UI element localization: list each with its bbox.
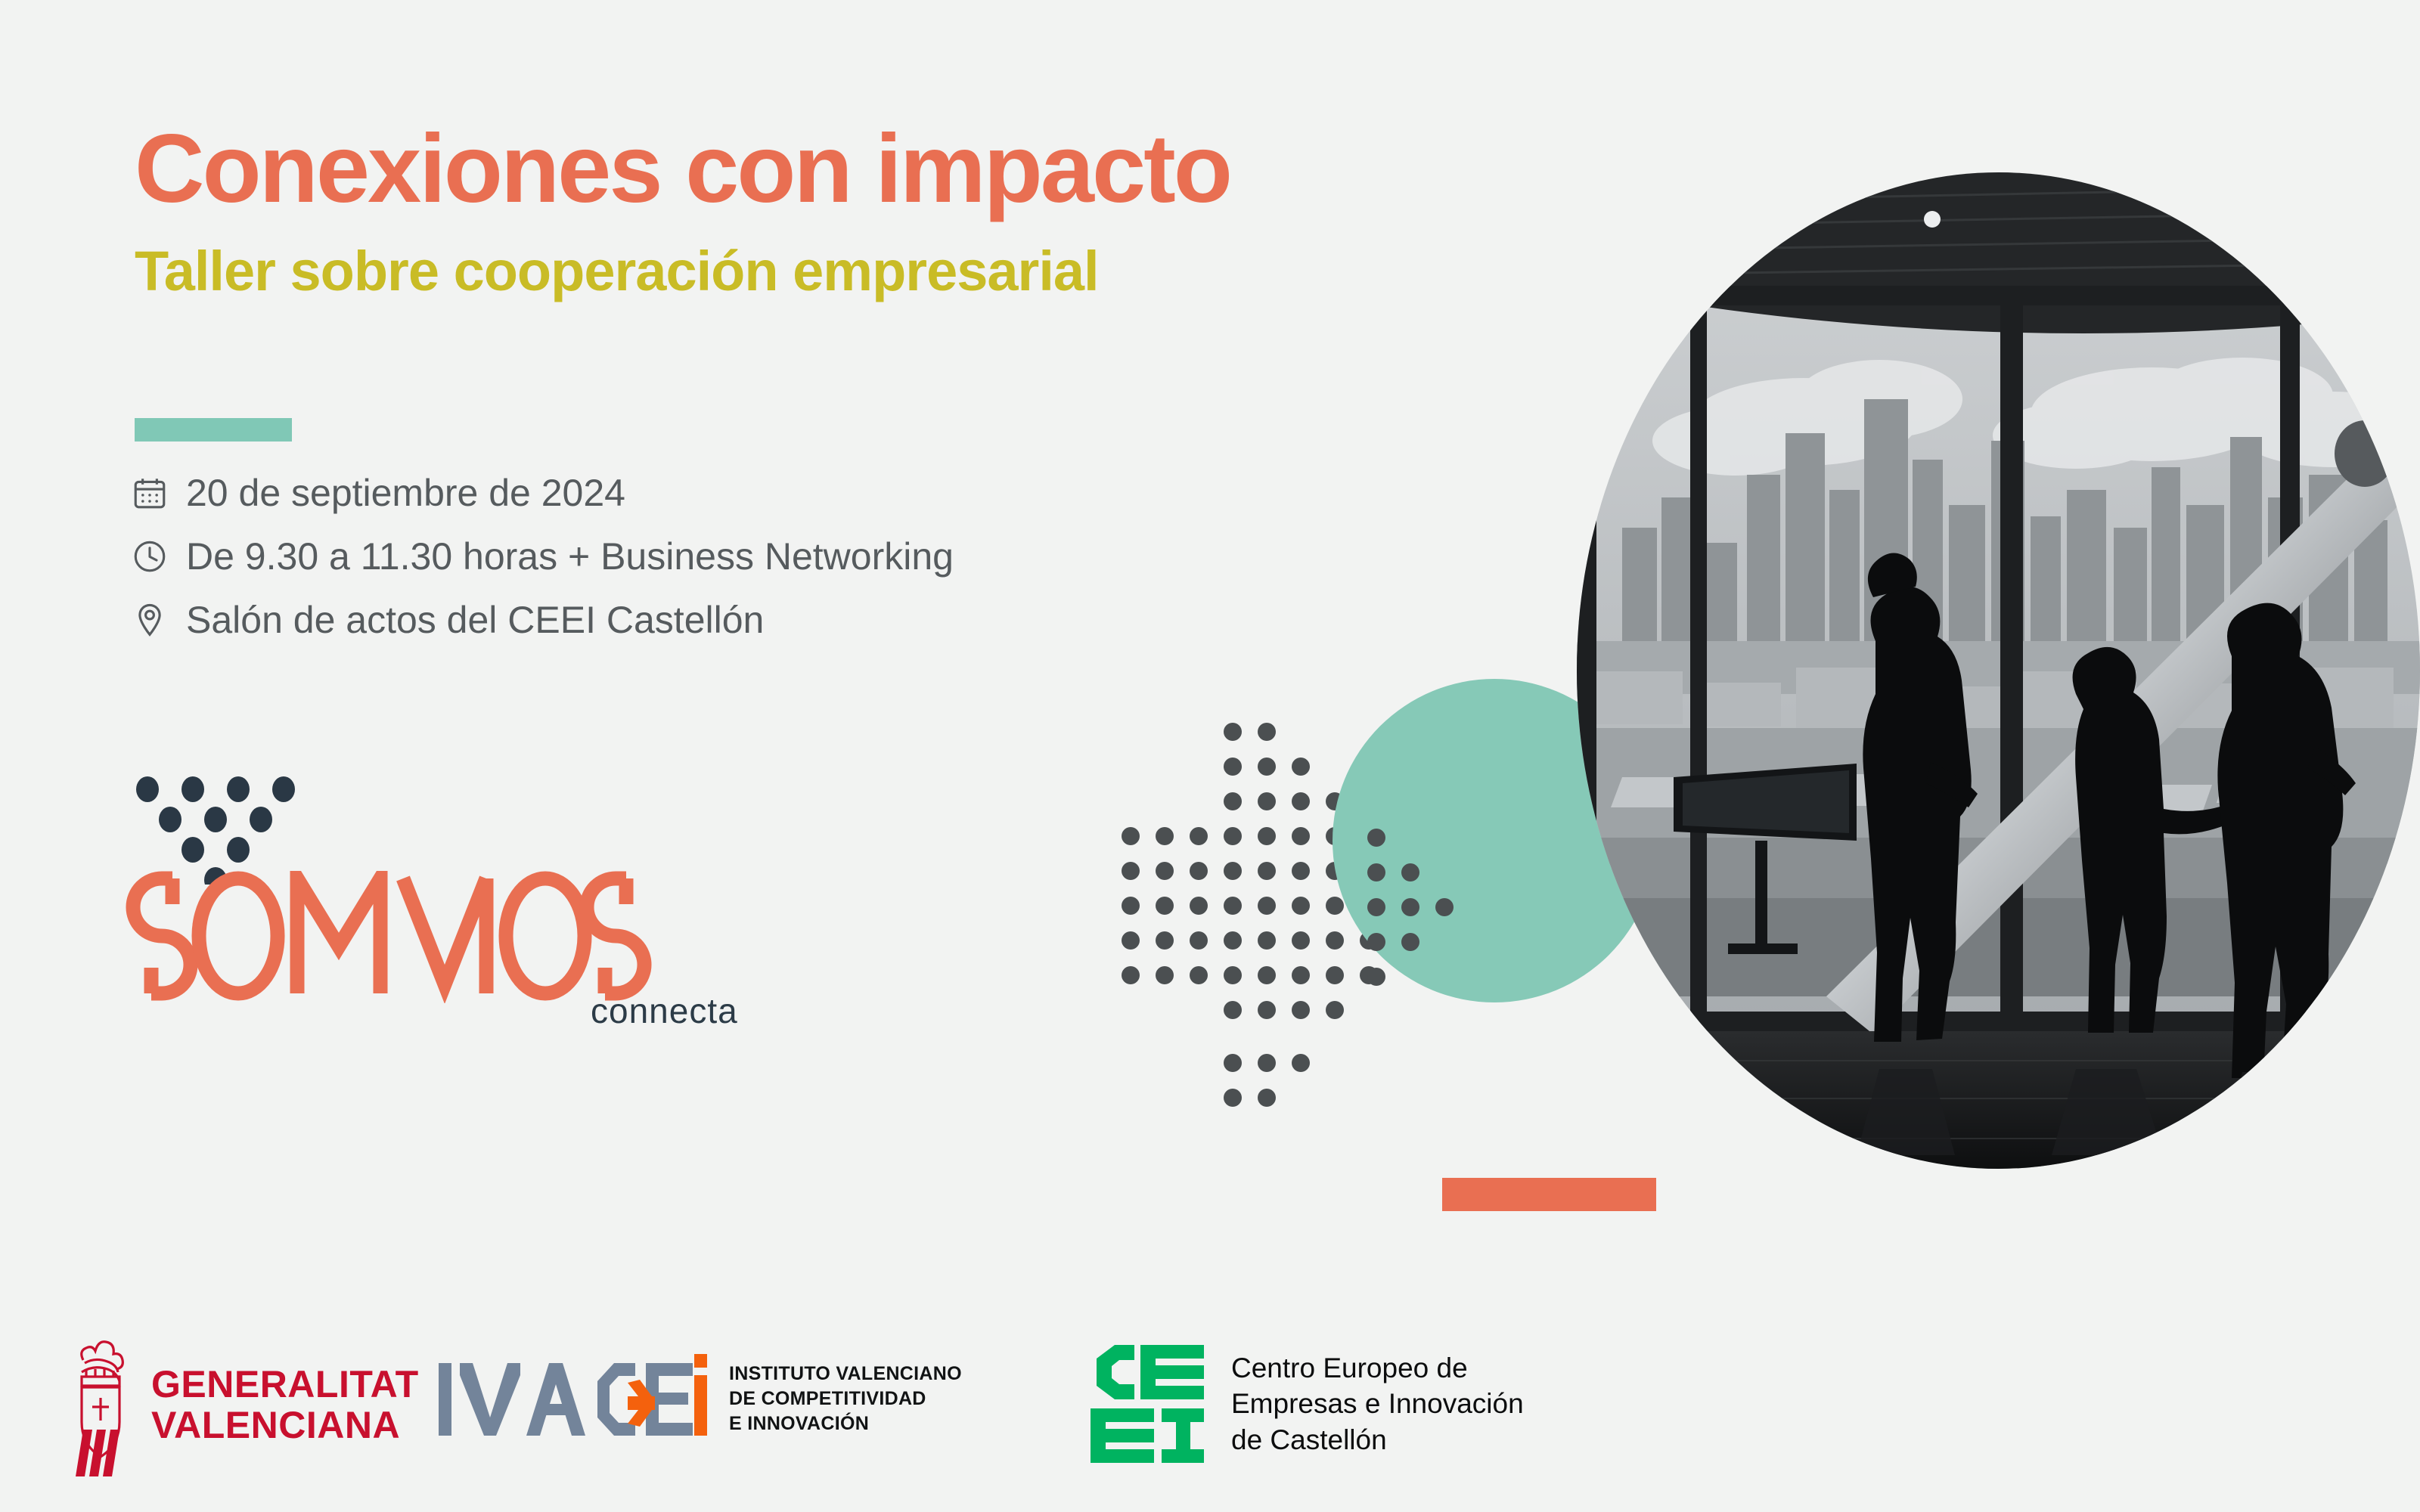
event-detail-venue: Salón de actos del CEEI Castellón	[130, 588, 954, 652]
sommos-wordmark-icon	[125, 871, 654, 1003]
event-date-text: 20 de septiembre de 2024	[186, 471, 625, 515]
ivace-caption-line-3: E INNOVACIÓN	[729, 1411, 962, 1436]
dot-grid-decoration-tail	[1089, 1036, 1414, 1142]
ivace-i-dot-icon	[690, 1349, 711, 1448]
ceei-caption-line-3: de Castellón	[1231, 1422, 1524, 1458]
generalitat-line-2: VALENCIANA	[151, 1405, 419, 1445]
headline-block: Conexiones con impacto Taller sobre coop…	[135, 121, 1632, 299]
event-time-text: De 9.30 a 11.30 horas + Business Network…	[186, 534, 954, 578]
sommos-tagline: connecta	[591, 990, 738, 1031]
generalitat-shield-icon	[67, 1333, 132, 1476]
sponsor-logos: GENERALITAT VALENCIANA	[0, 1327, 2420, 1501]
page-subtitle: Taller sobre cooperación empresarial	[135, 243, 1632, 299]
location-pin-icon	[130, 600, 169, 640]
ivace-caption-line-2: DE COMPETITIVIDAD	[729, 1387, 962, 1411]
accent-rule	[135, 418, 292, 442]
sommos-logo: connecta	[125, 771, 700, 1028]
coral-bar-decoration	[1442, 1178, 1656, 1211]
logo-ceei-castellon: Centro Europeo de Empresas e Innovación …	[1086, 1340, 1524, 1467]
sommos-triangle-dots-icon	[125, 771, 352, 885]
clock-icon	[130, 537, 169, 576]
event-detail-date: 20 de septiembre de 2024	[130, 461, 954, 525]
ceei-caption-line-1: Centro Europeo de	[1231, 1350, 1524, 1386]
event-venue-text: Salón de actos del CEEI Castellón	[186, 598, 764, 642]
generalitat-line-1: GENERALITAT	[151, 1364, 419, 1405]
ivace-caption-line-1: INSTITUTO VALENCIANO	[729, 1362, 962, 1387]
ivace-wordmark-icon	[437, 1349, 694, 1448]
event-details-list: 20 de septiembre de 2024 De 9.30 a 11.30…	[130, 461, 954, 652]
dot-grid-overlay-on-circle	[1361, 816, 1543, 1036]
ivace-caption: INSTITUTO VALENCIANO DE COMPETITIVIDAD E…	[729, 1362, 962, 1436]
event-detail-time: De 9.30 a 11.30 horas + Business Network…	[130, 525, 954, 588]
photo-illustration	[1577, 172, 2420, 1169]
ceei-caption: Centro Europeo de Empresas e Innovación …	[1231, 1350, 1524, 1458]
page-title: Conexiones con impacto	[135, 121, 1632, 218]
ceei-mark-icon	[1086, 1340, 1208, 1467]
generalitat-wordmark: GENERALITAT VALENCIANA	[151, 1364, 419, 1445]
event-poster: Conexiones con impacto Taller sobre coop…	[0, 0, 2420, 1512]
ceei-caption-line-2: Empresas e Innovación	[1231, 1386, 1524, 1421]
event-photo	[1577, 172, 2420, 1169]
logo-ivace: INSTITUTO VALENCIANO DE COMPETITIVIDAD E…	[437, 1349, 962, 1448]
logo-generalitat-valenciana: GENERALITAT VALENCIANA	[67, 1333, 419, 1476]
calendar-icon	[130, 473, 169, 513]
